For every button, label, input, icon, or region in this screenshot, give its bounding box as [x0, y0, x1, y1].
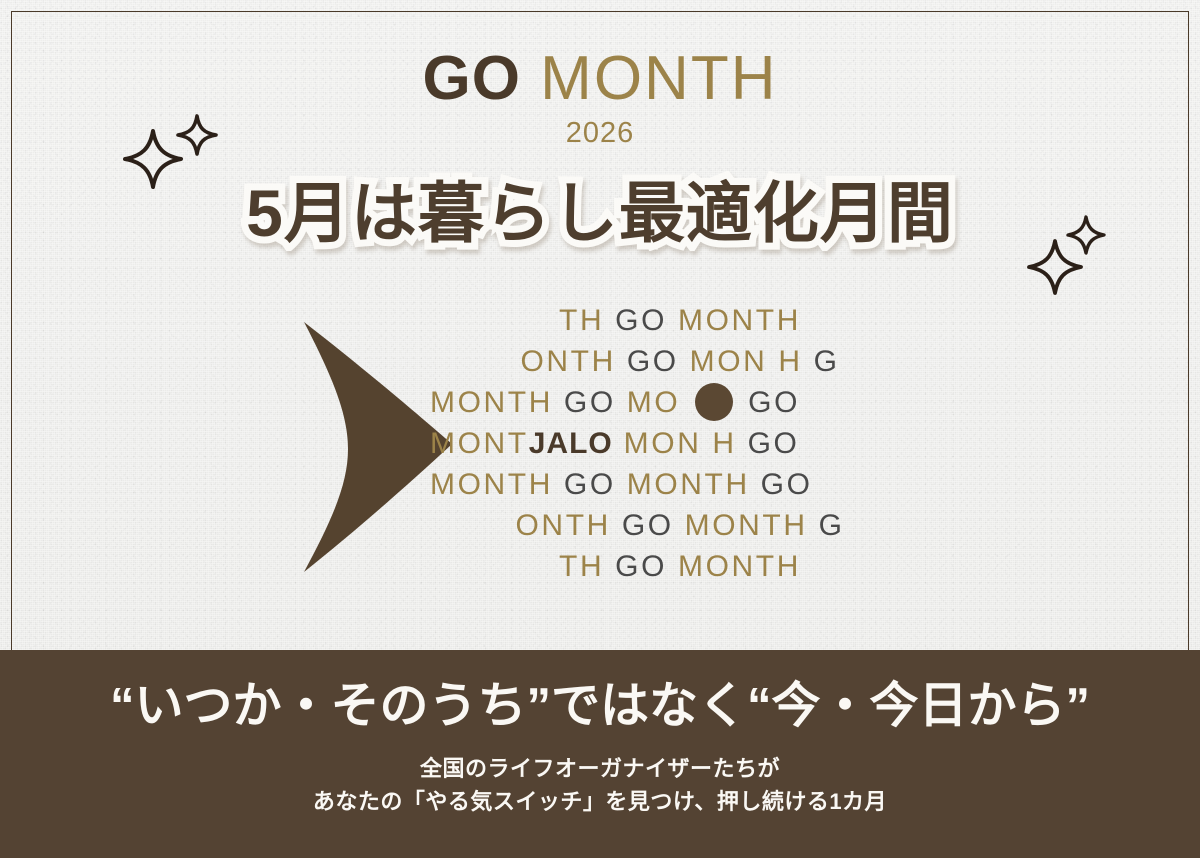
word-grid-row: ONTH GO MONTH G: [430, 505, 930, 546]
word-grid-token: MONTH: [430, 386, 564, 419]
word-grid-token: ONTH: [516, 509, 622, 542]
word-grid-token: GO: [748, 427, 800, 460]
brand-title: GO MONTH: [0, 48, 1200, 110]
brand-title-month: MONTH: [521, 44, 778, 113]
word-grid-token: GO: [564, 386, 627, 419]
grid-dot-marker: [695, 383, 733, 421]
word-grid-token: MONTH: [678, 304, 801, 337]
word-grid-token: GO: [622, 509, 685, 542]
banner-headline: “いつか・そのうち”ではなく“今・今日から”: [0, 678, 1200, 734]
word-grid-token: MO: [627, 386, 691, 419]
word-grid-token: TH: [559, 304, 615, 337]
word-grid-token: ONTH: [520, 345, 626, 378]
word-grid-row: MONTH GO MONTH GO: [430, 464, 930, 505]
word-grid-token: GO: [615, 304, 678, 337]
word-grid-row: MONTH GO MO GO: [430, 382, 930, 423]
page-title: 5月は暮らし最適化月間: [0, 160, 1200, 256]
word-grid-token: MONTH: [627, 468, 761, 501]
word-grid-token: MONTH: [430, 468, 564, 501]
word-grid-token: MON H: [613, 427, 748, 460]
word-grid-row: TH GO MONTH: [430, 300, 930, 341]
word-grid-token: JALO: [529, 427, 613, 460]
word-grid-token: GO: [761, 468, 813, 501]
word-grid-token: MON H: [690, 345, 814, 378]
word-grid: TH GO MONTHONTH GO MON H GMONTH GO MO GO…: [430, 300, 930, 587]
word-grid-token: MONTH: [685, 509, 819, 542]
bottom-banner: “いつか・そのうち”ではなく“今・今日から” 全国のライフオーガナイザーたちが …: [0, 650, 1200, 858]
word-grid-token: MONT: [430, 427, 529, 460]
word-grid-token: G: [814, 345, 840, 378]
word-grid-token: GO: [615, 550, 678, 583]
brand-year: 2026: [0, 117, 1200, 150]
word-grid-token: GO: [564, 468, 627, 501]
word-grid-token: TH: [559, 550, 615, 583]
banner-subtext: 全国のライフオーガナイザーたちが あなたの「やる気スイッチ」を見つけ、押し続ける…: [0, 752, 1200, 818]
word-grid-token: G: [819, 509, 845, 542]
banner-subtext-line2: あなたの「やる気スイッチ」を見つけ、押し続ける1カ月: [0, 785, 1200, 818]
word-grid-row: ONTH GO MON H G: [430, 341, 930, 382]
word-grid-token: MONTH: [678, 550, 801, 583]
word-grid-token: GO: [627, 345, 690, 378]
poster-canvas: GO MONTH 2026 5月は暮らし最適化月間 TH GO MONTHONT…: [0, 0, 1200, 858]
header-block: GO MONTH 2026: [0, 48, 1200, 150]
word-grid-row: MONTJALO MON H GO: [430, 423, 930, 464]
word-grid-row: TH GO MONTH: [430, 546, 930, 587]
brand-title-go: GO: [423, 44, 521, 113]
banner-subtext-line1: 全国のライフオーガナイザーたちが: [0, 752, 1200, 785]
word-grid-token: GO: [737, 386, 800, 419]
